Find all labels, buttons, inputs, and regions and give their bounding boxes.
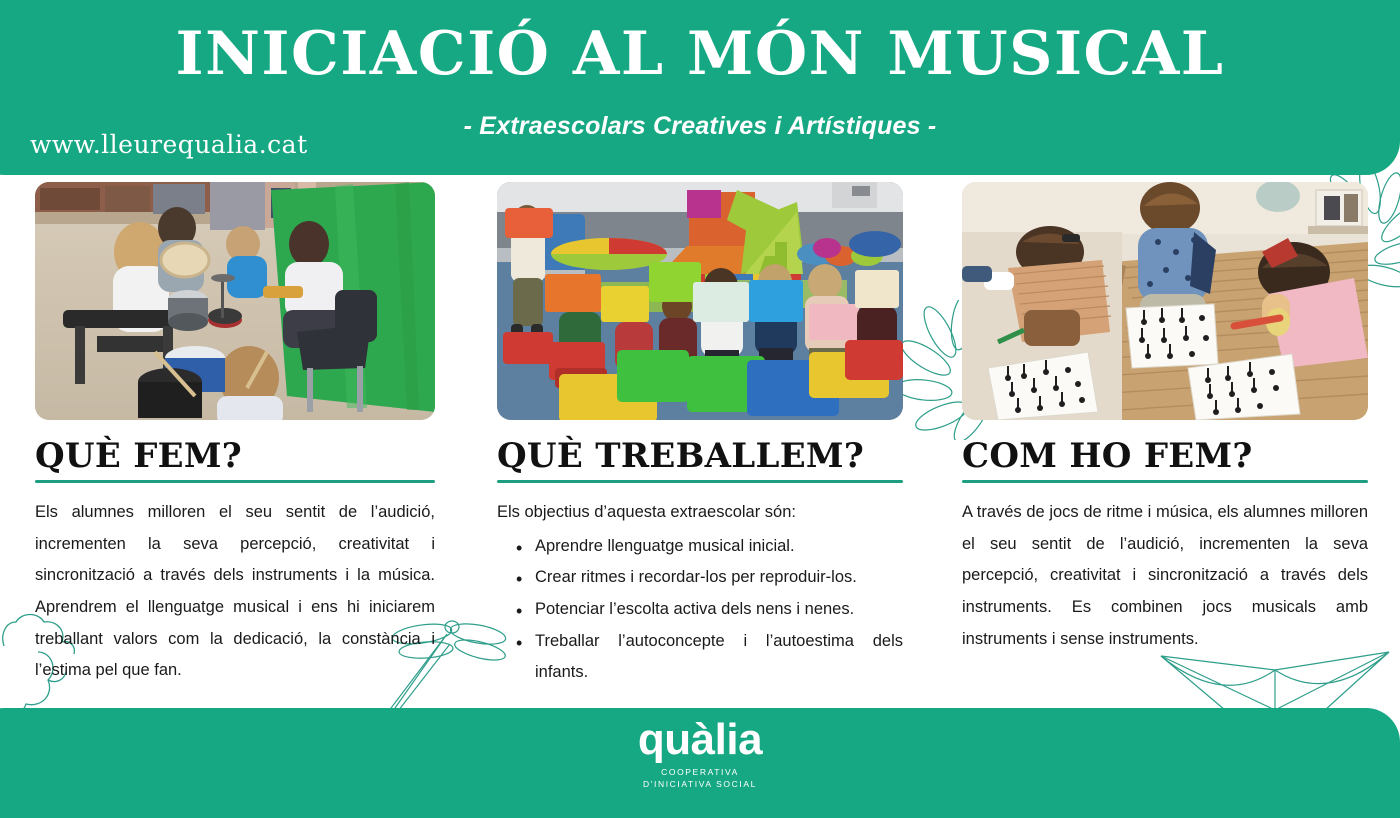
list-item: Crear ritmes i recordar-los per reprodui…	[535, 562, 903, 594]
column-com-ho-fem: COM HO FEM? A través de jocs de ritme i …	[962, 182, 1368, 655]
heading-divider	[497, 480, 903, 483]
column-que-fem: QUÈ FEM? Els alumnes milloren el seu sen…	[35, 182, 435, 687]
brand-tagline-line1: COOPERATIVA	[0, 766, 1400, 778]
footer-logo: quàlia COOPERATIVA D'INICIATIVA SOCIAL	[0, 708, 1400, 788]
brand-tagline-line2: D'INICIATIVA SOCIAL	[0, 778, 1400, 790]
list-item: Potenciar l’escolta activa dels nens i n…	[535, 594, 903, 626]
photo-music-notation-floor	[962, 182, 1368, 420]
column-heading: QUÈ FEM?	[35, 438, 435, 474]
column-paragraph: Els objectius d’aquesta extraescolar són…	[497, 497, 903, 529]
photo-colour-cards-gym	[497, 182, 903, 420]
column-heading: QUÈ TREBALLEM?	[497, 438, 903, 474]
content-columns: QUÈ FEM? Els alumnes milloren el seu sen…	[0, 182, 1400, 702]
objectives-list: Aprendre llenguatge musical inicial. Cre…	[497, 531, 903, 689]
header: INICIACIÓ AL MÓN MUSICAL - Extraescolars…	[0, 0, 1400, 176]
list-item: Treballar l’autoconcepte i l’autoestima …	[535, 626, 903, 689]
brand-wordmark: quàlia	[0, 718, 1400, 762]
column-que-treballem: QUÈ TREBALLEM? Els objectius d’aquesta e…	[497, 182, 903, 689]
heading-divider	[35, 480, 435, 483]
heading-divider	[962, 480, 1368, 483]
list-item: Aprendre llenguatge musical inicial.	[535, 531, 903, 563]
column-heading: COM HO FEM?	[962, 438, 1368, 474]
column-paragraph: Els alumnes milloren el seu sentit de l’…	[35, 497, 435, 687]
brand-tagline: COOPERATIVA D'INICIATIVA SOCIAL	[0, 766, 1400, 791]
page-title: INICIACIÓ AL MÓN MUSICAL	[0, 22, 1400, 87]
photo-percussion-class	[35, 182, 435, 420]
column-paragraph: A través de jocs de ritme i música, els …	[962, 497, 1368, 655]
website-url[interactable]: www.lleurequalia.cat	[30, 130, 308, 159]
